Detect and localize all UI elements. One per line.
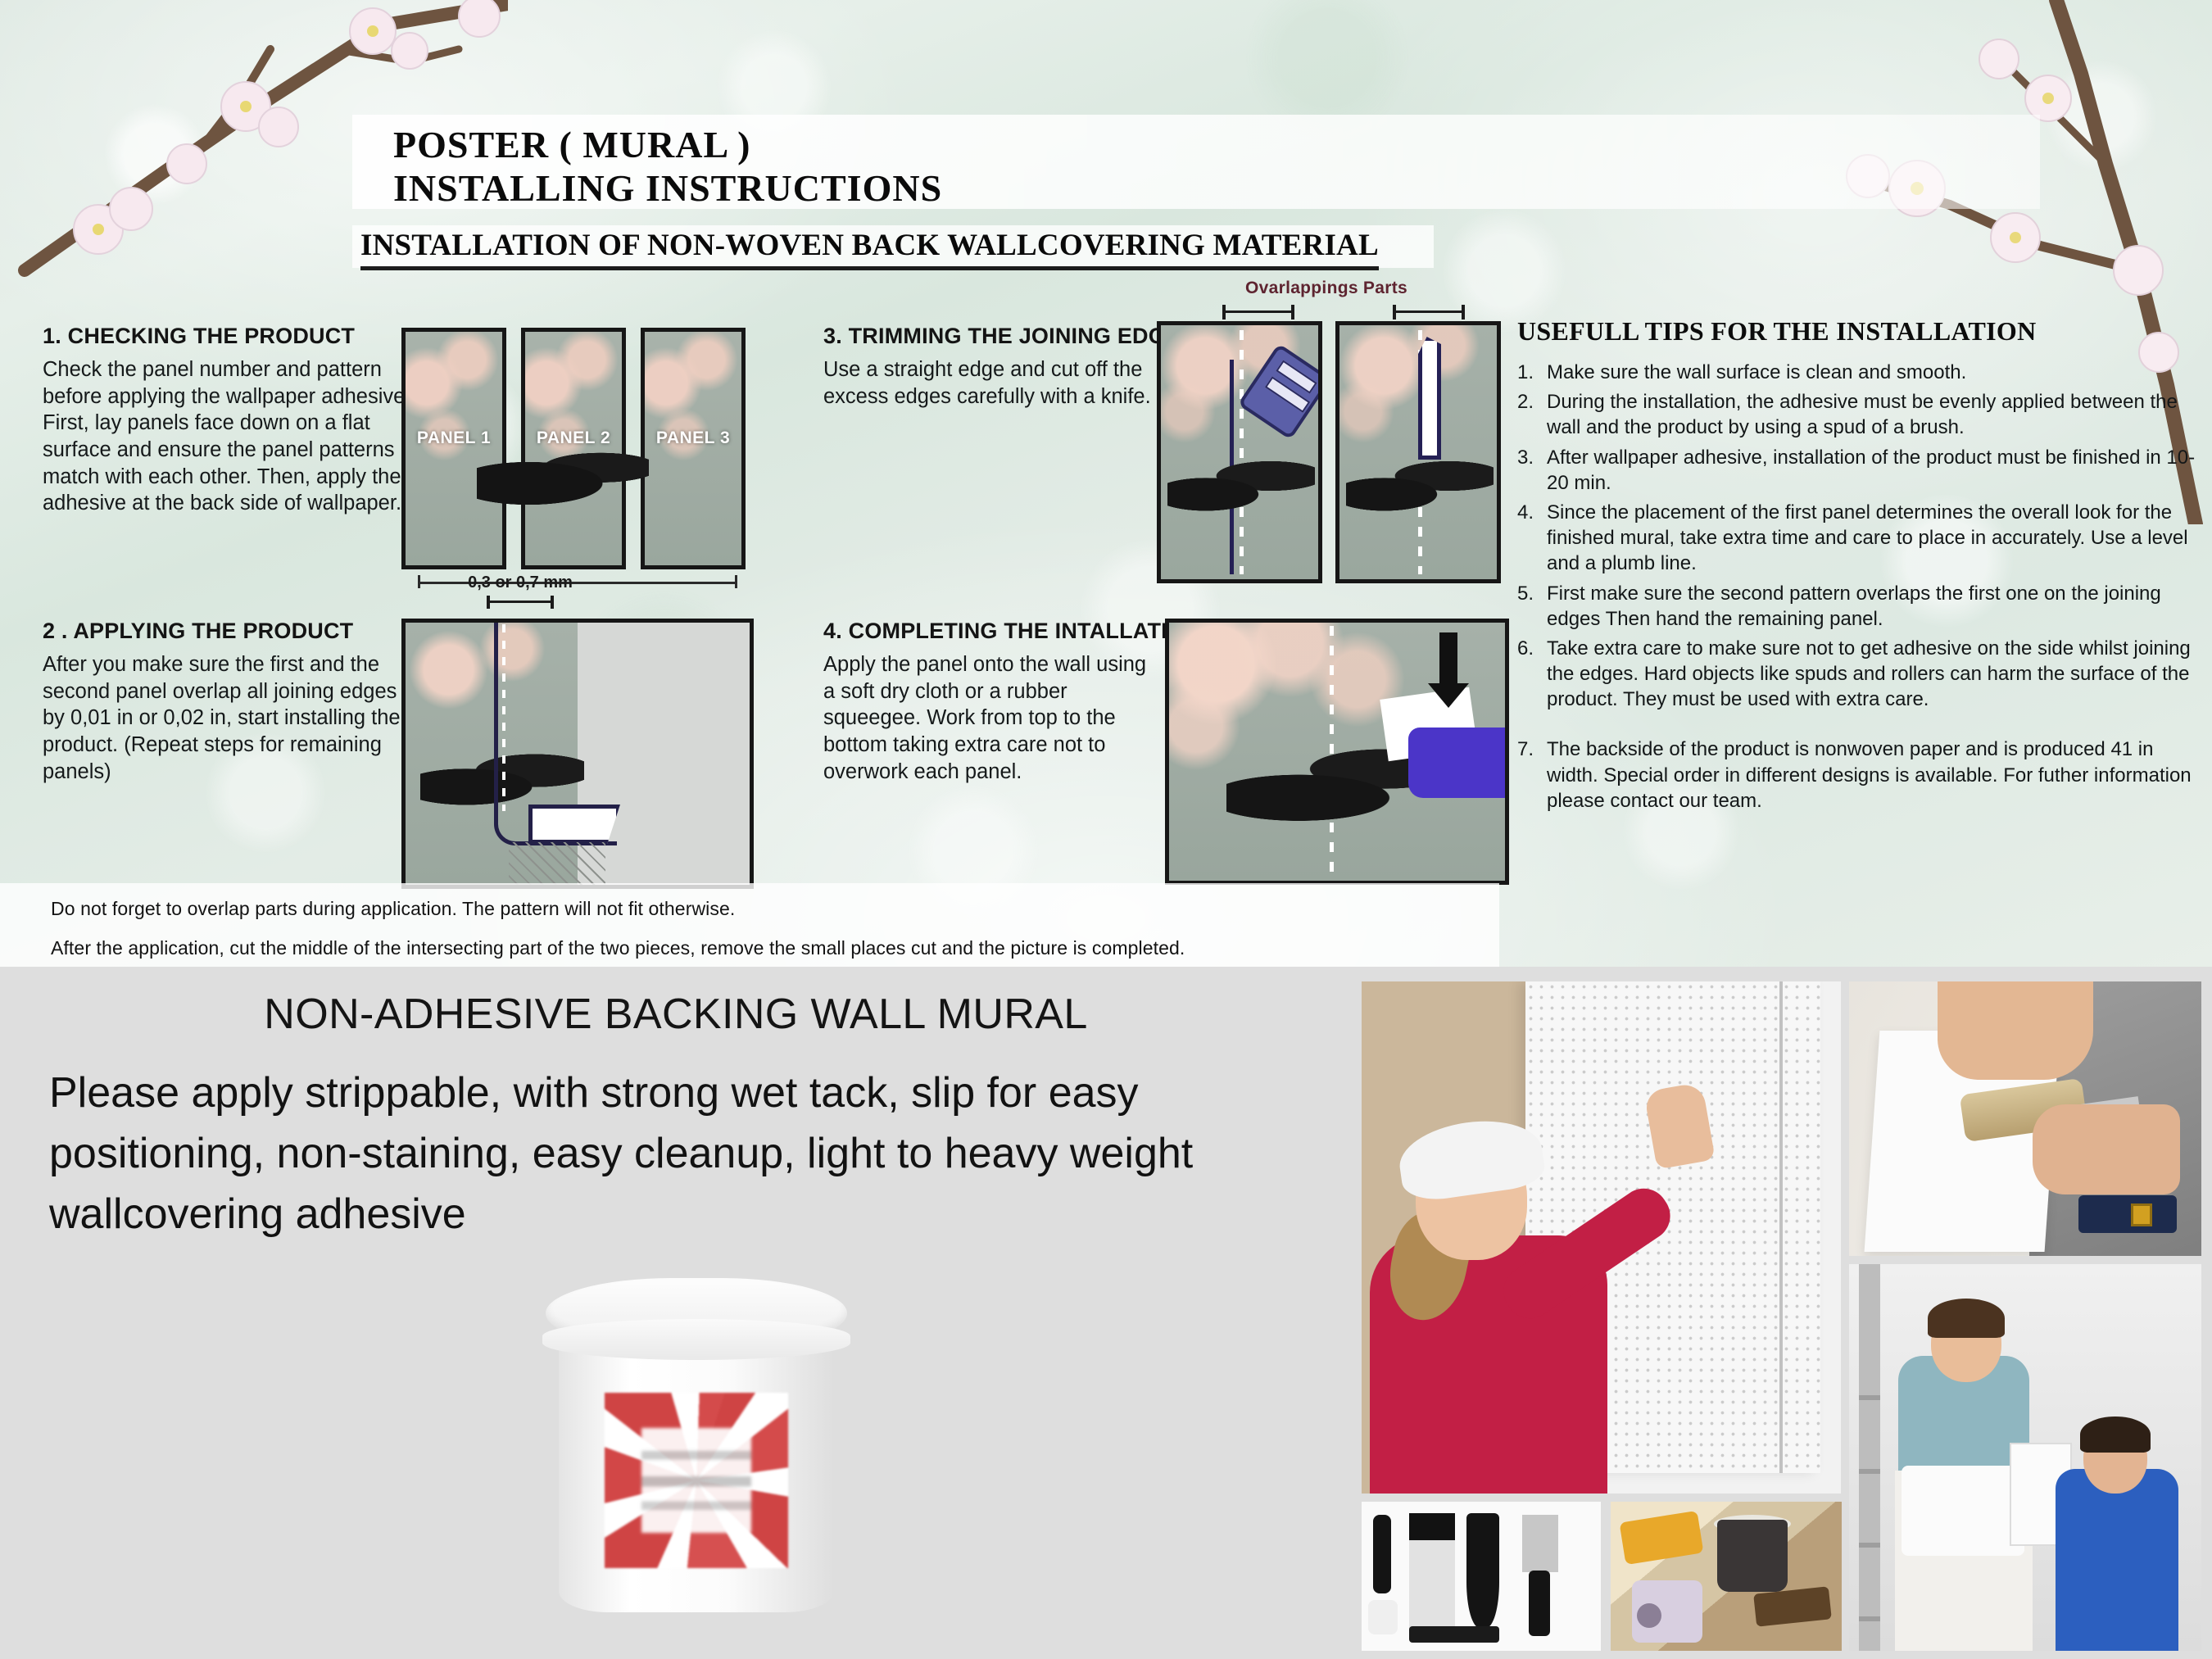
man-hair — [1928, 1299, 2005, 1338]
tip-item: 4. Since the placement of the first pane… — [1517, 500, 2197, 577]
step-3-body: Use a straight edge and cut off the exce… — [823, 356, 1151, 410]
tip-number: 1. — [1517, 360, 1534, 385]
tip-item: 7. The backside of the product is nonwov… — [1517, 737, 2197, 814]
bird-illustration — [1167, 456, 1315, 522]
paste-bucket — [1717, 1520, 1788, 1592]
tip-text: During the installation, the adhesive mu… — [1547, 391, 2178, 438]
step-4-heading: 4. COMPLETING THE INTALLATION — [823, 619, 1151, 644]
person-belt — [2078, 1195, 2177, 1233]
figure-overlap-diagram — [401, 619, 754, 889]
overlap-dimension-callout: 0,3 or 0,7 mm — [434, 573, 606, 609]
overlap-fold-tail — [528, 805, 620, 844]
person-lower-arm — [2033, 1104, 2180, 1194]
belt-buckle — [2131, 1203, 2152, 1226]
tip-text: The backside of the product is nonwoven … — [1547, 738, 2192, 811]
trim-panel-with-blade — [1335, 321, 1501, 583]
useful-tips-section: USEFULL TIPS FOR THE INSTALLATION 1. Mak… — [1517, 316, 2197, 818]
wallpaper-roll — [1632, 1580, 1702, 1643]
step-3-heading: 3. TRIMMING THE JOINING EDGES — [823, 324, 1151, 349]
overlap-dimension-bar — [487, 596, 554, 609]
putty-knife-blade-icon — [1522, 1515, 1558, 1572]
footer-notes: Do not forget to overlap parts during ap… — [0, 883, 1499, 967]
photo-paste-and-tools — [1611, 1502, 1842, 1651]
tip-item: 6. Take extra care to make sure not to g… — [1517, 636, 2197, 713]
photo-man-and-boy-hanging — [1849, 1264, 2201, 1651]
step-2-heading: 2 . APPLYING THE PRODUCT — [43, 619, 411, 644]
tip-item: 1. Make sure the wall surface is clean a… — [1517, 360, 2197, 385]
photo-tool-kit — [1362, 1502, 1601, 1651]
bird-illustration — [1346, 456, 1494, 522]
tips-list: 1. Make sure the wall surface is clean a… — [1517, 360, 2197, 814]
step-4-completing-the-installation: 4. COMPLETING THE INTALLATION Apply the … — [823, 619, 1151, 785]
seam-roller-icon — [1373, 1515, 1391, 1593]
step-1-checking-the-product: 1. CHECKING THE PRODUCT Check the panel … — [43, 324, 411, 517]
panel-3-thumbnail: PANEL 3 — [641, 328, 746, 569]
tip-number: 3. — [1517, 445, 1534, 470]
scraper-icon — [1466, 1513, 1499, 1628]
figure-trimming-diagram — [1157, 321, 1501, 583]
adhesive-description: Please apply strippable, with strong wet… — [49, 1063, 1327, 1244]
tip-number: 4. — [1517, 500, 1534, 525]
page-subtitle: INSTALLATION OF NON-WOVEN BACK WALLCOVER… — [360, 228, 1379, 270]
step-1-heading: 1. CHECKING THE PRODUCT — [43, 324, 411, 349]
bucket-label — [605, 1393, 788, 1568]
blade-icon — [1418, 337, 1441, 460]
overlap-measure-right — [1393, 305, 1465, 320]
seam-roller-head — [1368, 1600, 1398, 1634]
step-1-body: Check the panel number and pattern befor… — [43, 356, 411, 517]
tip-text: First make sure the second pattern overl… — [1547, 582, 2161, 630]
step-3-trimming-the-joining-edges: 3. TRIMMING THE JOINING EDGES Use a stra… — [823, 324, 1151, 410]
adhesive-headline: NON-ADHESIVE BACKING WALL MURAL — [0, 990, 1352, 1039]
overlap-dimension-label: 0,3 or 0,7 mm — [434, 573, 606, 592]
tips-heading: USEFULL TIPS FOR THE INSTALLATION — [1517, 316, 2197, 347]
step-2-body: After you make sure the first and the se… — [43, 651, 411, 785]
photo-roller-applying-paste — [1849, 981, 2201, 1256]
overlappings-parts-label: Ovarlappings Parts — [1245, 279, 1407, 298]
boy-coat — [2056, 1469, 2178, 1651]
footer-note-1: Do not forget to overlap parts during ap… — [51, 898, 735, 920]
hatched-area — [509, 842, 605, 889]
instruction-sheet: POSTER ( MURAL ) INSTALLING INSTRUCTIONS… — [0, 0, 2212, 967]
tip-text: Make sure the wall surface is clean and … — [1547, 361, 1966, 383]
tip-number: 5. — [1517, 581, 1534, 606]
photo-woman-hanging-liner — [1362, 981, 1841, 1494]
boy-hair — [2080, 1416, 2151, 1453]
bucket-body — [559, 1342, 834, 1612]
figure-squeegee-diagram — [1165, 619, 1509, 885]
gloved-hand-icon — [1408, 728, 1505, 798]
tip-number: 7. — [1517, 737, 1534, 762]
smoothing-brush-icon — [1409, 1513, 1455, 1636]
panel-3-label: PANEL 3 — [656, 428, 730, 448]
bird-illustration — [1226, 746, 1439, 836]
photo-collage — [1352, 973, 2212, 1659]
person-upper-arm — [1938, 981, 2093, 1080]
bird-illustration — [477, 434, 649, 533]
trim-panel-with-knife — [1157, 321, 1322, 583]
step-4-body: Apply the panel onto the wall using a so… — [823, 651, 1151, 785]
tip-item: 5. First make sure the second pattern ov… — [1517, 581, 2197, 632]
snap-off-knife-icon — [1409, 1626, 1499, 1643]
adhesive-bucket-image — [541, 1278, 852, 1622]
page-title-line1: POSTER ( MURAL ) — [393, 123, 750, 166]
cut-dashed-line — [1240, 330, 1244, 574]
figure-three-panels: PANEL 1 PANEL 2 PANEL 3 — [401, 328, 754, 569]
step-ladder — [1859, 1264, 1880, 1651]
utility-knife-icon — [1238, 343, 1322, 440]
tip-text: After wallpaper adhesive, installation o… — [1547, 446, 2195, 494]
down-arrow-icon — [1439, 632, 1457, 687]
step-2-applying-the-product: 2 . APPLYING THE PRODUCT After you make … — [43, 619, 411, 785]
tip-number: 6. — [1517, 636, 1534, 661]
overlap-measure-left — [1222, 305, 1294, 320]
putty-knife-handle — [1529, 1571, 1550, 1636]
page-title-line2: INSTALLING INSTRUCTIONS — [393, 166, 942, 210]
tip-item: 3. After wallpaper adhesive, installatio… — [1517, 445, 2197, 496]
man-apron — [1902, 1466, 2024, 1556]
footer-note-2: After the application, cut the middle of… — [51, 937, 1185, 959]
tip-item: 2. During the installation, the adhesive… — [1517, 389, 2197, 440]
bucket-rim — [542, 1319, 850, 1360]
tip-number: 2. — [1517, 389, 1534, 415]
tip-text: Since the placement of the first panel d… — [1547, 501, 2188, 574]
tip-text: Take extra care to make sure not to get … — [1547, 637, 2191, 710]
